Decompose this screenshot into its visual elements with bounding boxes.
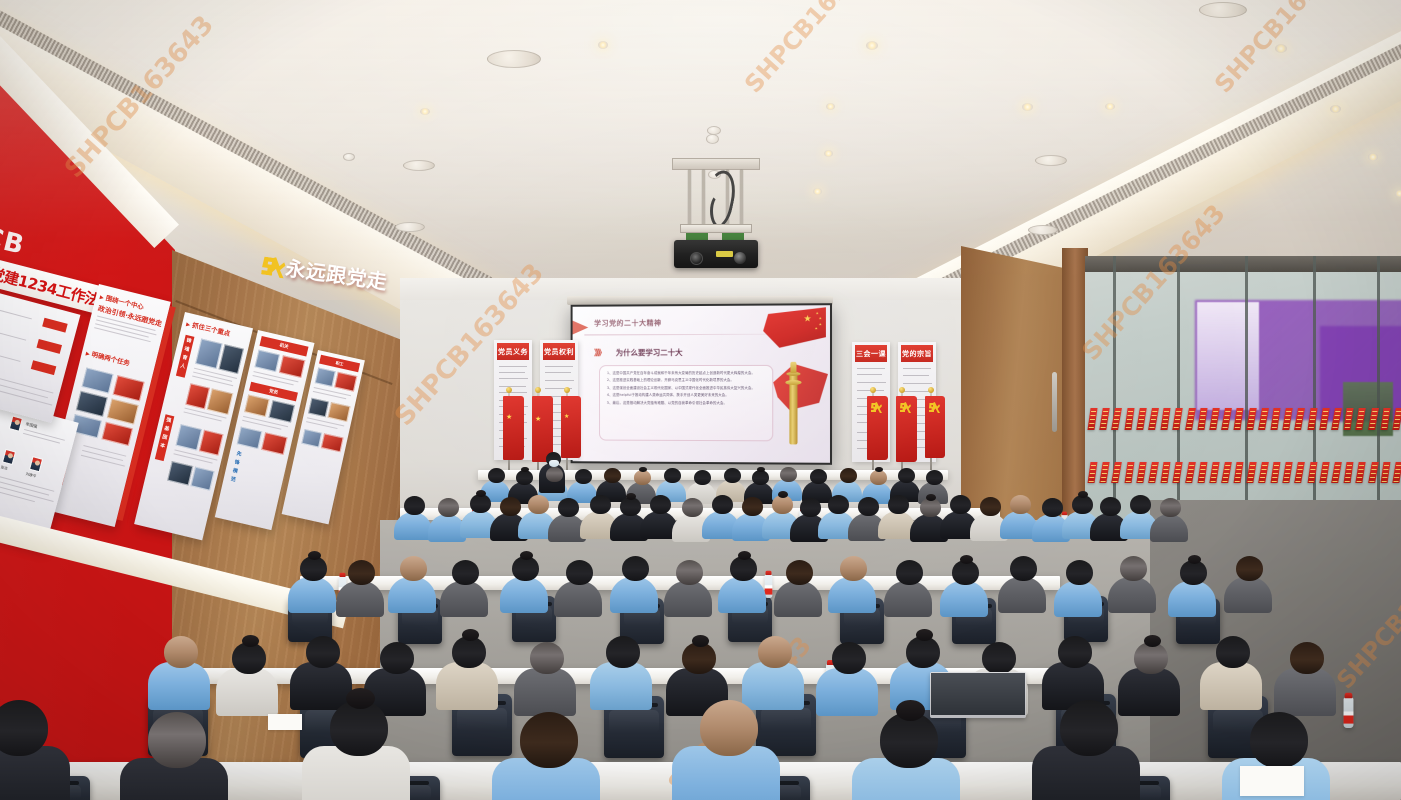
flag-small-star-icon: ★ [816, 312, 819, 316]
person-head [546, 467, 563, 482]
bottle-label [765, 585, 773, 594]
banner-title: 党员权利 [543, 343, 575, 360]
slide-bullet: 3、这是谋划全面建设社会主义现代化国家、以中国式现代化全面推进中华民族伟大复兴的… [607, 386, 766, 391]
person-head [1060, 700, 1118, 756]
hanging-ribbon-decor [1331, 462, 1342, 483]
person-head [752, 470, 769, 485]
person-head [780, 467, 797, 482]
hanging-ribbon-decor [1307, 408, 1317, 430]
person-head [700, 700, 758, 756]
person-head [604, 468, 621, 483]
person-head [1100, 497, 1121, 516]
panel-vertical-label: 先 锋 模 范 [227, 450, 243, 491]
projector-sensor-icon [734, 252, 746, 264]
flag-pole-finial-icon [564, 387, 570, 393]
person-head [1010, 495, 1031, 514]
glass-header-beam [1085, 256, 1401, 272]
hanging-ribbon-decor [1185, 462, 1196, 483]
person-head [558, 498, 579, 517]
person-head [810, 469, 827, 484]
slide-section-marker: 》》》 [594, 347, 604, 358]
hair-bun [1188, 555, 1202, 565]
slide-title: 学习党的二十大精神 [594, 318, 661, 328]
person-head [1250, 712, 1308, 768]
person-head [520, 712, 578, 768]
bottle-cap [340, 573, 346, 577]
window-light-reflection [1197, 302, 1259, 410]
downlight-icon [420, 108, 430, 115]
person-head [786, 560, 813, 585]
water-bottle[interactable] [765, 574, 773, 598]
person-torso [718, 577, 766, 613]
document-paper[interactable] [268, 714, 302, 730]
person-torso [742, 662, 804, 710]
downlight-icon [813, 188, 822, 195]
panel-vertical-label: 强 基 固 本 [155, 414, 174, 461]
laptop[interactable] [930, 672, 1026, 718]
cpc-party-flag [925, 396, 945, 458]
person-torso [940, 581, 988, 617]
smoke-detector-icon [343, 153, 355, 161]
hair-bun [960, 555, 974, 565]
panel-vertical-label: 铸 魂 育 人 [176, 335, 195, 378]
person-head [888, 495, 909, 514]
ceiling-speaker-icon [1035, 155, 1067, 166]
hanging-ribbon-decor [1088, 462, 1098, 483]
hanging-ribbon-decor [1331, 408, 1342, 430]
hair-bun [896, 700, 925, 721]
hair-bun [738, 551, 752, 561]
downlight-icon [824, 150, 833, 157]
person-torso [1118, 668, 1180, 716]
hanging-ribbon-decor [1246, 462, 1256, 483]
hair-bun [692, 635, 709, 647]
panel-heading-three-focus: 抓住三个重点 [185, 318, 231, 338]
projector-green-panel [722, 233, 744, 240]
person-torso [1274, 668, 1336, 716]
person-head [348, 560, 375, 585]
person-head [676, 560, 703, 585]
person-torso [774, 581, 822, 617]
ceiling-speaker-icon [487, 50, 541, 68]
person-head [622, 556, 649, 581]
person-torso [1054, 581, 1102, 617]
flag-pole-finial-icon [870, 387, 876, 393]
hanging-ribbon-decor [1295, 462, 1306, 483]
hair-bun [1144, 635, 1161, 647]
flag-pole-finial-icon [928, 387, 934, 393]
flag-small-star-icon: ★ [819, 323, 822, 327]
hanging-ribbon-decor [1271, 462, 1281, 483]
downlight-icon [866, 41, 878, 50]
hair-bun [520, 551, 534, 561]
person-torso [288, 577, 336, 613]
banner-title: 党的宗旨 [901, 345, 933, 362]
hanging-ribbon-decor [1392, 462, 1401, 483]
person-torso [816, 668, 878, 716]
hanging-ribbon-decor [1380, 462, 1390, 483]
party-emblem-icon [900, 402, 911, 413]
person-head [400, 556, 427, 581]
member-name: 刘建平 [25, 472, 37, 480]
bottle-cap [766, 571, 772, 575]
cpc-party-flag [896, 396, 917, 462]
conference-room-photo: 学习党的二十大精神 》》》 为什么要学习二十大 1、这是中国共产党在百年奋斗成就… [0, 0, 1401, 800]
person-head [1236, 556, 1263, 581]
chinese-national-flag: ★ [503, 396, 524, 460]
hanging-ribbon-decor [1344, 408, 1354, 430]
party-emblem-icon [871, 402, 882, 413]
hanging-ribbon-decor [1209, 462, 1219, 483]
person-head [664, 468, 681, 483]
bottle-cap [1345, 693, 1353, 699]
hanging-ribbon-decor [1087, 408, 1097, 430]
person-torso [828, 577, 876, 613]
person-torso [1200, 662, 1262, 710]
downlight-icon [1275, 44, 1287, 53]
board-tag [31, 360, 57, 375]
projector-label [716, 251, 733, 257]
hanging-ribbon-decor [1319, 408, 1329, 430]
hanging-ribbon-decor [1173, 408, 1183, 430]
projector-body [674, 240, 758, 268]
person-head [1130, 495, 1151, 514]
person-head [950, 495, 971, 514]
flag-small-star-icon: ★ [815, 327, 818, 331]
hair-bun [308, 551, 322, 561]
panel-heading-two-tasks: 明确两个任务 [85, 347, 131, 368]
person-head [840, 468, 857, 483]
person-head [742, 497, 763, 516]
flag-pole-finial-icon [506, 387, 512, 393]
water-bottle[interactable] [1344, 697, 1354, 728]
person-head [1290, 642, 1324, 674]
downlight-icon [1105, 103, 1115, 110]
projection-screen: 学习党的二十大精神 》》》 为什么要学习二十大 1、这是中国共产党在百年奋斗成就… [571, 303, 832, 465]
banner-title: 党员义务 [497, 343, 529, 360]
person-torso [336, 581, 384, 617]
person-head [1216, 636, 1250, 668]
hanging-ribbon-decor [1307, 462, 1317, 483]
person-head [926, 470, 943, 485]
person-head [590, 495, 611, 514]
slide-bullet-box: 1、这是中国共产党在百年奋斗成就和千年未有大变局的历史起点上创造新时代更大辉煌的… [599, 365, 773, 441]
hanging-ribbon-decor [1100, 462, 1110, 483]
hanging-ribbon-decor [1380, 408, 1390, 430]
person-torso [514, 668, 576, 716]
hair-bun [462, 629, 479, 641]
board-tag [42, 318, 68, 333]
hanging-ribbon-decor [1319, 462, 1329, 483]
member-name: 张志 [0, 465, 8, 472]
hanging-ribbon-decor [1234, 462, 1244, 483]
hanging-ribbon-decor [1185, 408, 1196, 430]
person-head [438, 498, 459, 517]
downlight-icon [1022, 103, 1033, 111]
person-head [870, 470, 887, 485]
downlight-icon [1395, 190, 1401, 197]
ceiling-speaker-icon [403, 160, 435, 171]
hanging-ribbon-decor [1283, 462, 1293, 483]
hanging-ribbon-decor [1111, 408, 1122, 430]
person-head [1042, 498, 1063, 517]
person-head [148, 712, 206, 768]
person-torso [610, 577, 658, 613]
projector-green-panel [686, 233, 708, 240]
flag-pole-finial-icon [899, 387, 905, 393]
hair-bun [242, 635, 259, 647]
person-torso [440, 581, 488, 617]
projector-ceiling-plate [672, 158, 760, 170]
person-head [832, 642, 866, 674]
hanging-ribbon-decor [1234, 408, 1244, 430]
person-head [1120, 556, 1147, 581]
hanging-ribbon-decor [1099, 408, 1109, 430]
slide-bullet: 5、最后，这是推动解决大党独有难题、以党的自我革命引领社会革命的大会。 [607, 401, 766, 407]
downlight-icon [1368, 153, 1378, 161]
presentation-slide: 学习党的二十大精神 》》》 为什么要学习二十大 1、这是中国共产党在百年奋斗成就… [573, 305, 830, 463]
slide-bullet: 2、这是推进实践基础上的理论创新，开辟马克思主义中国化时代化新境界的大会。 [607, 378, 766, 383]
person-torso [590, 662, 652, 710]
hanging-ribbon-decor [1148, 462, 1159, 483]
huabiao-column-graphic [785, 358, 801, 445]
hanging-ribbon-decor [1161, 462, 1171, 483]
downlight-icon [826, 103, 835, 110]
hanging-ribbon-decor [1161, 408, 1171, 430]
person-head [164, 636, 198, 668]
board-tag [36, 339, 62, 354]
person-torso [664, 581, 712, 617]
person-head [404, 496, 425, 515]
person-torso [388, 577, 436, 613]
cpc-party-flag [867, 396, 888, 460]
person-head [516, 470, 533, 485]
person-torso [998, 577, 1046, 613]
person-torso [884, 581, 932, 617]
hanging-ribbon-decor [1136, 462, 1146, 483]
projector-mount-bar [680, 224, 752, 233]
hanging-ribbon-decor [1294, 408, 1305, 430]
projector-cable-loop [710, 194, 728, 228]
person-head [528, 495, 549, 514]
ribbon-decor-row [1085, 408, 1401, 434]
hanging-ribbon-decor [1258, 462, 1269, 483]
chinese-national-flag: ★ [561, 396, 581, 458]
hanging-ribbon-decor [1392, 408, 1401, 430]
banner-title: 三会一课 [855, 345, 887, 362]
person-head [1160, 498, 1181, 517]
person-head [828, 495, 849, 514]
slide-subtitle: 为什么要学习二十大 [616, 347, 683, 358]
document-paper[interactable] [1240, 766, 1304, 796]
hanging-ribbon-decor [1197, 408, 1207, 430]
person-head [500, 497, 521, 516]
ceiling-projector [666, 158, 766, 270]
bottle-cap [1062, 512, 1067, 516]
flag-small-star-icon: ★ [819, 317, 822, 321]
hanging-ribbon-decor [1368, 462, 1379, 483]
hanging-ribbon-decor [1112, 462, 1123, 483]
hanging-ribbon-decor [1246, 408, 1256, 430]
hanging-ribbon-decor [1124, 408, 1134, 430]
person-head [758, 636, 792, 668]
person-torso [554, 581, 602, 617]
downlight-icon [598, 41, 608, 49]
person-head [1010, 556, 1037, 581]
person-head [1066, 560, 1093, 585]
hanging-ribbon-decor [1209, 408, 1219, 430]
person-head [982, 642, 1016, 674]
person-head [306, 636, 340, 668]
person-head [1058, 636, 1092, 668]
face-mask [549, 460, 559, 467]
hanging-ribbon-decor [1221, 408, 1232, 430]
hanging-ribbon-decor [1124, 462, 1134, 483]
hanging-ribbon-decor [1197, 462, 1207, 483]
hanging-ribbon-decor [1356, 408, 1366, 430]
ceiling-speaker-icon [1028, 225, 1058, 235]
hanging-ribbon-decor [1258, 408, 1269, 430]
hanging-ribbon-decor [1368, 408, 1379, 430]
person-torso [1168, 581, 1216, 617]
hanging-ribbon-decor [1344, 462, 1354, 483]
slide-title-marker-icon [573, 321, 589, 335]
person-torso [500, 577, 548, 613]
person-head [650, 495, 671, 514]
ceiling-speaker-icon [1199, 2, 1247, 18]
person-head [898, 468, 915, 483]
person-head [800, 498, 821, 517]
person-head [380, 642, 414, 674]
person-head [606, 636, 640, 668]
person-head [682, 498, 703, 517]
person-head [858, 497, 879, 516]
person-head [566, 560, 593, 585]
ribbon-decor-row [1085, 462, 1401, 488]
laptop-screen [931, 673, 1025, 715]
person-head [840, 556, 867, 581]
door-handle[interactable] [1052, 372, 1057, 432]
hanging-ribbon-decor [1282, 408, 1292, 430]
person-torso [148, 662, 210, 710]
hanging-ribbon-decor [1136, 408, 1146, 430]
party-emblem-icon [929, 402, 940, 413]
person-torso [436, 662, 498, 710]
hair-bun [916, 629, 933, 641]
person-torso [1224, 577, 1272, 613]
person-head [980, 497, 1001, 516]
smoke-detector-icon [706, 134, 719, 144]
projector-lens-icon [690, 252, 703, 265]
person-head [530, 642, 564, 674]
ceiling-speaker-icon [395, 222, 425, 232]
flag-pole-finial-icon [535, 387, 541, 393]
person-head [488, 468, 505, 483]
person-head [634, 470, 651, 485]
person-head [694, 470, 711, 485]
hair-bun [346, 688, 375, 709]
slide-bullet: 4、这是helpful于推动构建人类命运共同体、携手开创人类更美好未来的大会。 [607, 393, 766, 398]
hanging-ribbon-decor [1356, 462, 1366, 483]
hanging-ribbon-decor [1148, 408, 1159, 430]
person-head [724, 468, 741, 483]
person-head [452, 560, 479, 585]
bottle-label [1344, 712, 1354, 724]
slide-bullet: 1、这是中国共产党在百年奋斗成就和千年未有大变局的历史起点上创造新时代更大辉煌的… [607, 371, 766, 376]
flag-big-star-icon: ★ [803, 314, 811, 323]
person-torso [290, 662, 352, 710]
hanging-ribbon-decor [1270, 408, 1280, 430]
hanging-ribbon-decor [1173, 462, 1183, 483]
person-torso [216, 668, 278, 716]
person-head [575, 469, 592, 484]
person-head [712, 495, 733, 514]
person-head [896, 560, 923, 585]
downlight-icon [1330, 105, 1341, 113]
person-torso [1108, 577, 1156, 613]
hanging-ribbon-decor [1221, 462, 1232, 483]
